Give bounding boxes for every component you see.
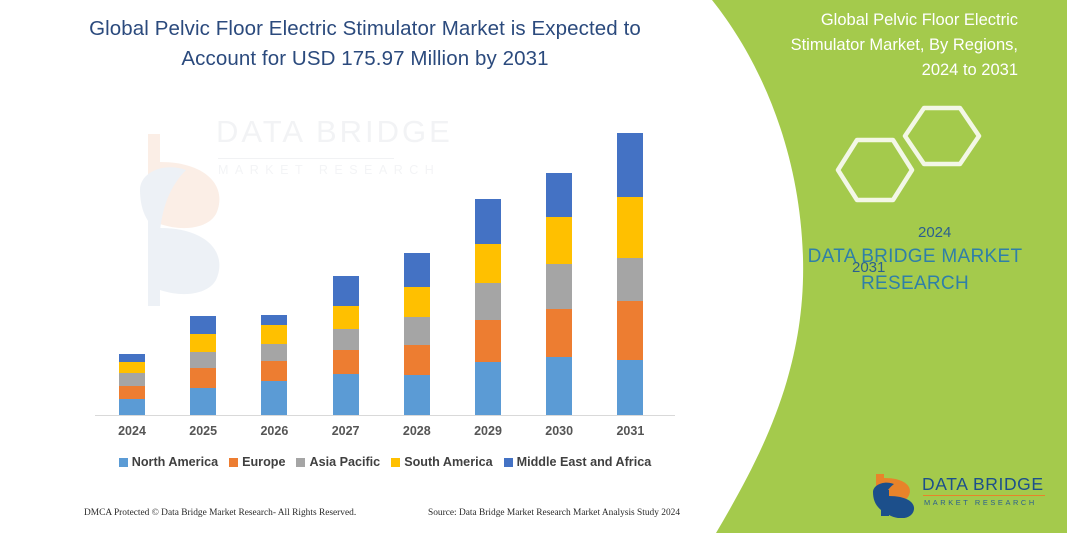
bar-segment: [190, 388, 216, 415]
x-axis-label-2031: 2031: [600, 424, 660, 438]
bar-segment: [404, 287, 430, 318]
bar-2024: [119, 354, 145, 415]
bar-2026: [261, 315, 287, 415]
bar-segment: [119, 386, 145, 399]
bar-segment: [190, 316, 216, 333]
bar-segment: [546, 264, 572, 309]
hexagon-2031-shape: [838, 140, 912, 200]
bar-segment: [404, 345, 430, 376]
bar-segment: [546, 173, 572, 217]
bar-2030: [546, 173, 572, 415]
bar-segment: [333, 329, 359, 350]
bar-segment: [546, 309, 572, 357]
bar-segment: [333, 374, 359, 415]
dbmr-logo-title: DATA BRIDGE: [922, 474, 1044, 495]
bar-segment: [617, 133, 643, 197]
dbmr-logo-subtitle: MARKET RESEARCH: [924, 498, 1037, 507]
legend-item[interactable]: Middle East and Africa: [504, 455, 652, 469]
bar-segment: [546, 357, 572, 415]
bar-2031: [617, 133, 643, 415]
bar-segment: [119, 362, 145, 373]
bar-segment: [119, 354, 145, 362]
footer-source: Source: Data Bridge Market Research Mark…: [428, 508, 680, 518]
dbmr-logo: DATA BRIDGE MARKET RESEARCH: [872, 472, 1052, 518]
x-axis-label-2024: 2024: [102, 424, 162, 438]
bar-2025: [190, 316, 216, 415]
page-title: Global Pelvic Floor Electric Stimulator …: [60, 14, 670, 74]
legend-item[interactable]: North America: [119, 455, 218, 469]
bar-segment: [119, 399, 145, 415]
dbmr-logo-icon: [873, 474, 914, 518]
x-axis-line: [95, 415, 675, 416]
bar-segment: [546, 217, 572, 265]
legend-swatch-icon: [296, 458, 305, 467]
legend-label: South America: [404, 455, 492, 469]
x-axis-label-2025: 2025: [173, 424, 233, 438]
bar-segment: [333, 350, 359, 374]
bar-segment: [261, 344, 287, 361]
bar-segment: [190, 368, 216, 387]
bar-segment: [119, 373, 145, 385]
bar-segment: [190, 334, 216, 352]
legend-swatch-icon: [229, 458, 238, 467]
bar-segment: [404, 317, 430, 344]
panel-title: Global Pelvic Floor Electric Stimulator …: [760, 8, 1018, 83]
bar-segment: [475, 283, 501, 321]
x-axis-label-2030: 2030: [529, 424, 589, 438]
infographic-canvas: Global Pelvic Floor Electric Stimulator …: [0, 0, 1067, 533]
hexagon-2024-label: 2024: [918, 224, 951, 241]
bar-segment: [617, 258, 643, 301]
x-axis-label-2028: 2028: [387, 424, 447, 438]
stacked-bar-chart: [95, 120, 675, 416]
bar-segment: [190, 352, 216, 368]
hexagon-2024-shape: [905, 108, 979, 164]
footer-copyright: DMCA Protected © Data Bridge Market Rese…: [84, 508, 356, 518]
bar-segment: [261, 315, 287, 324]
x-axis-label-2027: 2027: [316, 424, 376, 438]
legend-item[interactable]: South America: [391, 455, 492, 469]
bar-segment: [261, 361, 287, 381]
legend-label: Middle East and Africa: [517, 455, 652, 469]
bar-segment: [617, 301, 643, 360]
legend-label: North America: [132, 455, 218, 469]
chart-legend: North AmericaEuropeAsia PacificSouth Ame…: [95, 455, 675, 469]
bar-segment: [475, 320, 501, 362]
legend-swatch-icon: [119, 458, 128, 467]
legend-item[interactable]: Asia Pacific: [296, 455, 380, 469]
footer: DMCA Protected © Data Bridge Market Rese…: [0, 508, 712, 524]
bar-segment: [475, 199, 501, 244]
bar-segment: [333, 276, 359, 307]
legend-swatch-icon: [391, 458, 400, 467]
bar-2029: [475, 199, 501, 415]
bar-segment: [404, 375, 430, 415]
x-axis-labels: 20242025202620272028202920302031: [95, 424, 675, 442]
dbmr-logo-divider: [923, 495, 1045, 496]
x-axis-label-2029: 2029: [458, 424, 518, 438]
bar-segment: [333, 306, 359, 328]
brand-name: DATA BRIDGE MARKET RESEARCH: [790, 243, 1040, 297]
bar-segment: [261, 381, 287, 415]
hexagon-group: 2031 2024: [810, 100, 1010, 210]
bar-segment: [261, 325, 287, 344]
bar-segment: [617, 197, 643, 258]
x-axis-label-2026: 2026: [244, 424, 304, 438]
legend-swatch-icon: [504, 458, 513, 467]
legend-label: Asia Pacific: [309, 455, 380, 469]
bar-segment: [475, 244, 501, 283]
legend-label: Europe: [242, 455, 285, 469]
bar-segment: [475, 362, 501, 415]
bar-2027: [333, 276, 359, 415]
legend-item[interactable]: Europe: [229, 455, 285, 469]
bar-segment: [404, 253, 430, 287]
bar-2028: [404, 253, 430, 415]
bar-segment: [617, 360, 643, 415]
